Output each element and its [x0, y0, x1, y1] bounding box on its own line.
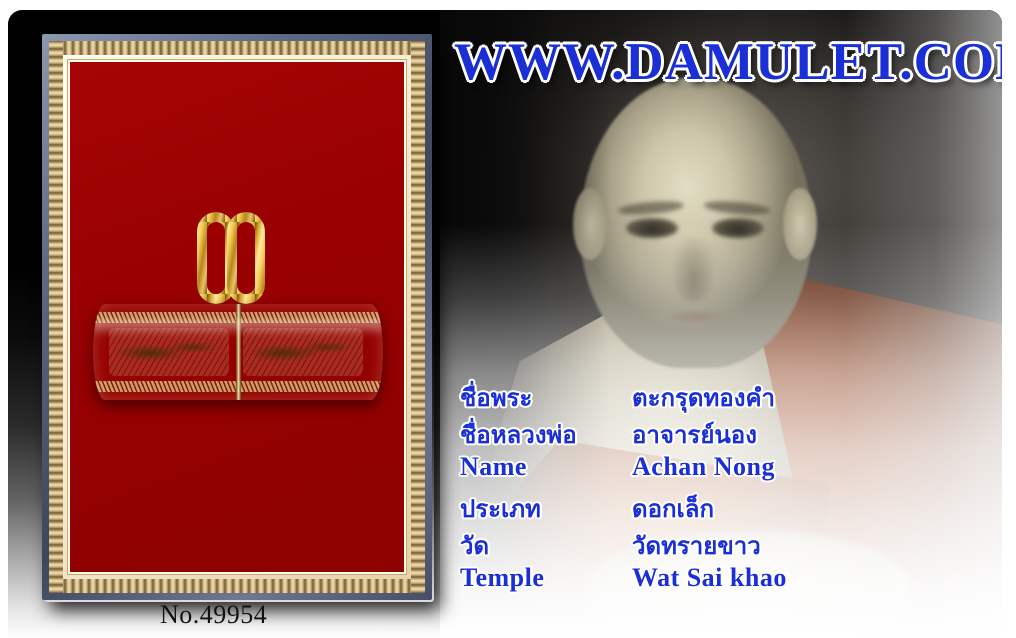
amulet-info-table: ชื่อพระ ตะกรุดทองคํา ชื่อหลวงพ่อ อาจารย์… [460, 378, 890, 600]
info-row-temple-thai: วัด วัดทรายขาว [460, 526, 890, 563]
info-label-temple: Temple [460, 563, 632, 593]
frame-gold-bead-border [49, 41, 425, 593]
info-row-temple: Temple Wat Sai khao [460, 563, 890, 600]
item-number-label: No.49954 [160, 600, 267, 630]
info-value-monk-name-thai: อาจารย์นอง [632, 415, 757, 454]
info-value-temple: Wat Sai khao [632, 563, 787, 593]
info-label-temple-thai: วัด [460, 526, 632, 565]
frame-red-mat [70, 62, 404, 572]
info-label-name: Name [460, 452, 632, 482]
site-title: WWW.DAMULET.COM [454, 32, 1002, 92]
amulet-gold-tube [93, 304, 383, 400]
info-row-type: ประเภท ดอกเล็ก [460, 489, 890, 526]
info-value-temple-thai: วัดทรายขาว [632, 526, 761, 565]
picture-frame [42, 34, 432, 600]
info-row-monk-name-thai: ชื่อหลวงพ่อ อาจารย์นอง [460, 415, 890, 452]
info-value-type: ดอกเล็ก [632, 489, 714, 528]
amulet-loop-right-icon [227, 212, 265, 304]
info-label-type: ประเภท [460, 489, 632, 528]
info-label-amulet-name: ชื่อพระ [460, 378, 632, 417]
info-value-amulet-name: ตะกรุดทองคํา [632, 378, 775, 417]
info-row-amulet-name: ชื่อพระ ตะกรุดทองคํา [460, 378, 890, 415]
gold-takrut-amulet [87, 212, 387, 412]
amulet-highlight [93, 320, 383, 336]
frame-cream-liner [63, 55, 411, 579]
info-value-name: Achan Nong [632, 452, 775, 482]
amulet-center-seam [236, 304, 241, 400]
frame-gold-fillet [67, 59, 407, 575]
info-label-monk-name-thai: ชื่อหลวงพ่อ [460, 415, 632, 454]
dark-background-panel: WWW.DAMULET.COM ชื่อพระ ตะกรุดทองคํา ชื่… [8, 10, 1002, 638]
info-row-name: Name Achan Nong [460, 452, 890, 489]
amulet-listing-card: WWW.DAMULET.COM ชื่อพระ ตะกรุดทองคํา ชื่… [0, 0, 1016, 638]
